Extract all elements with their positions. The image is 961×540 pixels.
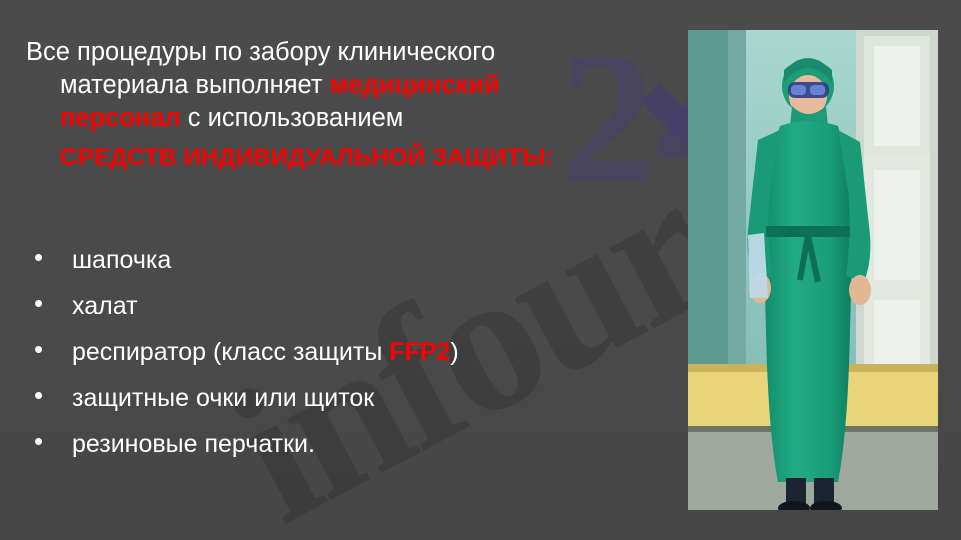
paragraph-line-3-plain: с использованием [181, 104, 404, 132]
bullet-text-2: халат [72, 292, 138, 320]
bullet-text-3b: ) [450, 338, 458, 366]
bullet-text-1: шапочка [72, 246, 171, 274]
paragraph-line-4: СРЕДСТВ ИНДИВИДУАЛЬНОЙ ЗАЩИТЫ: [26, 141, 646, 174]
ppe-photo [688, 30, 938, 510]
slide-paragraph: Все процедуры по забору клинического мат… [26, 36, 646, 175]
paragraph-line-4-tail: : [546, 144, 554, 171]
paragraph-line-4-accent: СРЕДСТВ ИНДИВИДУАЛЬНОЙ ЗАЩИТЫ [60, 144, 546, 171]
paragraph-line-1: Все процедуры по забору клинического [26, 36, 646, 69]
paragraph-line-2-plain: материала выполняет [60, 71, 330, 99]
paragraph-line-2-accent: медицинский [330, 71, 500, 99]
list-item: халат [26, 294, 626, 319]
paragraph-line-2: материала выполняет медицинский [26, 69, 646, 102]
bullet-text-3-accent: FFP2 [389, 338, 450, 366]
paragraph-line-3: персонал с использованием [26, 102, 646, 135]
list-item: резиновые перчатки. [26, 432, 626, 457]
list-item: шапочка [26, 248, 626, 273]
bullet-text-3a: респиратор (класс защиты [72, 338, 389, 366]
bullet-text-5: резиновые перчатки. [72, 430, 315, 458]
slide: infourok 24 Все процедуры по забору клин… [0, 0, 961, 540]
bullet-text-4: защитные очки или щиток [72, 384, 374, 412]
list-item: защитные очки или щиток [26, 386, 626, 411]
ppe-photo-illustration [688, 30, 938, 510]
list-item: респиратор (класс защиты FFP2) [26, 340, 626, 365]
paragraph-line-3-accent: персонал [60, 104, 181, 132]
ppe-bullet-list: шапочка халат респиратор (класс защиты F… [26, 248, 626, 478]
